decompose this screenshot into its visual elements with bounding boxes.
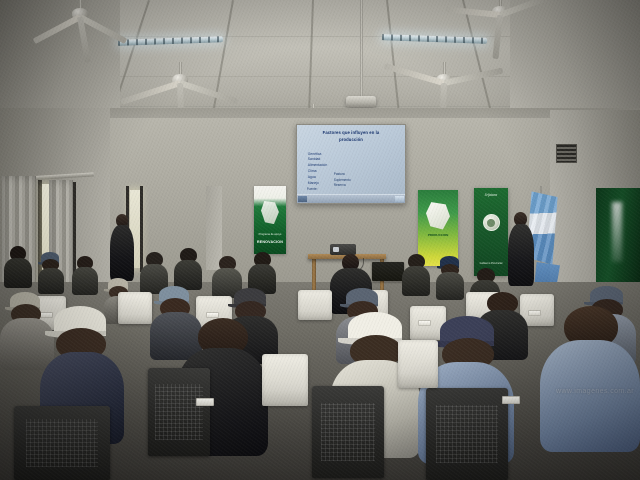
- projection-screen: Factores que influyen en la producción G…: [296, 124, 406, 204]
- ceiling-fan-3: [162, 62, 198, 92]
- ceiling-fan-2: [480, 0, 520, 28]
- banner-right-hanging-green: [596, 188, 640, 284]
- banner-left-artwork: [261, 201, 279, 224]
- audience-member: [436, 256, 464, 296]
- chair: [312, 386, 384, 478]
- slide-title: Factores que influyen en la producción: [306, 130, 397, 143]
- chair: [426, 388, 508, 480]
- chair-label-tag: [196, 398, 214, 406]
- person-standing-left: [110, 214, 136, 286]
- presenter-standing-right: [508, 212, 536, 294]
- taskbar-start-button: [298, 196, 307, 202]
- banner-rollup-green: Jefatura Gobierno Provincial: [474, 188, 508, 276]
- photo-scene: Factores que influyen en la producción G…: [0, 0, 640, 480]
- banner-left-subtext: Programa de apoyo: [254, 233, 286, 236]
- audience-member: [4, 246, 32, 286]
- chair-label-tag: [502, 396, 520, 404]
- ceiling-fan-4: [426, 62, 462, 92]
- banner-wall-artwork: [426, 202, 450, 229]
- chair: [262, 354, 308, 406]
- laptop-computer: [372, 262, 404, 281]
- banner-rollup-seal-icon: [483, 214, 500, 231]
- slide-taskbar: [297, 194, 405, 203]
- audience-member-front: [540, 306, 640, 446]
- chair: [298, 290, 332, 320]
- banner-rollup-title: Jefatura: [474, 193, 508, 197]
- projector-mount: [360, 0, 363, 98]
- chair: [398, 340, 438, 388]
- slide-bullet-list: Genética Sanidad Alimentación Clima Agua…: [308, 152, 327, 188]
- banner-left-headline: RENOVACION: [254, 240, 286, 244]
- slide-footer: Fuente:: [307, 187, 318, 191]
- banner-left-stand: Programa de apoyo RENOVACION: [254, 186, 286, 254]
- audience-member: [72, 256, 98, 292]
- chair: [14, 406, 110, 480]
- banner-wall-text: PRODUCCION: [418, 233, 458, 237]
- slide-sub-list: Pastura Suplemento Reserva: [334, 172, 351, 189]
- wall-vent-grille: [556, 144, 577, 163]
- ceiling-fan-1: [60, 0, 100, 30]
- ceiling-mounted-projector: [346, 96, 376, 107]
- audience-member: [38, 252, 64, 290]
- taskbar-tray-icon: [395, 196, 404, 202]
- audience-member: [402, 254, 430, 294]
- chair: [148, 368, 210, 456]
- audience-member: [174, 248, 202, 288]
- banner-rollup-subtext: Gobierno Provincial: [474, 262, 508, 265]
- audience-member: [248, 252, 276, 292]
